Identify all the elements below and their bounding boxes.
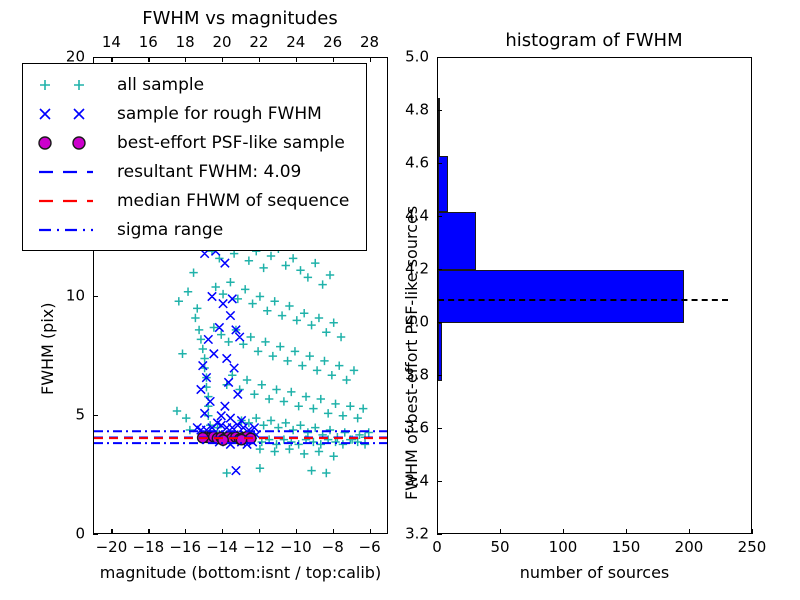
legend-label: best-effort PSF-like sample	[117, 133, 345, 153]
scatter-xtick-label: −14	[206, 540, 238, 555]
scatter-ytick	[93, 57, 98, 58]
legend-label: resultant FWHM: 4.09	[117, 162, 301, 182]
histogram-ytick	[437, 216, 442, 217]
histogram-median-line	[438, 299, 728, 301]
legend-marker-dashed-line-icon	[31, 161, 117, 183]
scatter-xtick-label: −12	[243, 540, 275, 555]
left-panel-title: FWHM vs magnitudes	[142, 10, 337, 28]
legend-item-5[interactable]: sigma range	[31, 215, 358, 244]
scatter-ylabel: FWHM (pix)	[40, 303, 56, 396]
histogram-xtick-label: 200	[675, 540, 704, 555]
scatter-xtick-top-label: 26	[323, 35, 342, 50]
histogram-axes	[437, 57, 752, 534]
psf-sample-point	[218, 435, 228, 445]
scatter-xlabel: magnitude (bottom:isnt / top:calib)	[93, 565, 388, 581]
legend-item-0[interactable]: all sample	[31, 70, 358, 99]
scatter-xtick-top	[333, 57, 334, 62]
histogram-ytick	[437, 534, 442, 535]
histogram-ytick-label: 4.8	[405, 103, 429, 118]
legend-item-4[interactable]: median FHWM of sequence	[31, 186, 358, 215]
legend-item-3[interactable]: resultant FWHM: 4.09	[31, 157, 358, 186]
histogram-xtick-label: 0	[432, 540, 442, 555]
histogram-ytick-label: 3.2	[405, 527, 429, 542]
scatter-xtick-label: −8	[322, 540, 344, 555]
scatter-xtick-top	[111, 57, 112, 62]
scatter-xtick-top	[185, 57, 186, 62]
histogram-xlabel: number of sources	[437, 565, 752, 581]
scatter-ytick-label: 10	[66, 288, 85, 303]
scatter-xtick-label: −6	[359, 540, 381, 555]
scatter-xtick	[148, 529, 149, 534]
scatter-xtick-top	[296, 57, 297, 62]
histogram-bar	[438, 98, 440, 156]
histogram-ytick	[437, 322, 442, 323]
figure-canvas: FWHM vs magnitudes −20−18−16−14−12−10−8−…	[0, 0, 800, 600]
scatter-xtick-top	[222, 57, 223, 62]
histogram-ytick	[437, 57, 442, 58]
scatter-xtick	[185, 529, 186, 534]
legend-label: all sample	[117, 75, 204, 95]
histogram-bar	[438, 323, 442, 381]
scatter-xtick	[111, 529, 112, 534]
legend-marker-dashdot-line-icon	[31, 219, 117, 241]
legend-marker-cross-icon	[31, 103, 117, 125]
legend-marker-plus-icon	[31, 74, 117, 96]
legend-label: sample for rough FWHM	[117, 104, 322, 124]
histogram-bar	[438, 270, 684, 323]
legend-label: sigma range	[117, 220, 223, 240]
scatter-xtick-top-label: 28	[360, 35, 379, 50]
scatter-xtick-label: −20	[96, 540, 128, 555]
scatter-xtick-top	[148, 57, 149, 62]
legend-marker-circle-icon	[31, 132, 117, 154]
scatter-xtick-top-label: 20	[213, 35, 232, 50]
legend-item-2[interactable]: best-effort PSF-like sample	[31, 128, 358, 157]
scatter-xtick	[296, 529, 297, 534]
histogram-ytick	[437, 428, 442, 429]
histogram-xtick	[626, 529, 627, 534]
histogram-ytick	[437, 375, 442, 376]
scatter-ytick	[93, 534, 98, 535]
scatter-ytick	[93, 296, 98, 297]
scatter-xtick-top-label: 18	[176, 35, 195, 50]
histogram-panel-title: histogram of FWHM	[505, 32, 682, 50]
legend-label: median FHWM of sequence	[117, 191, 349, 211]
histogram-ytick	[437, 481, 442, 482]
scatter-ytick-label: 0	[75, 527, 85, 542]
scatter-xtick	[222, 529, 223, 534]
histogram-plot-area	[438, 58, 751, 533]
scatter-xtick-top-label: 24	[286, 35, 305, 50]
legend-item-1[interactable]: sample for rough FWHM	[31, 99, 358, 128]
plot-legend: all samplesample for rough FWHMbest-effo…	[22, 63, 367, 251]
histogram-bar	[438, 156, 448, 212]
legend-marker-dashed-line-icon	[31, 190, 117, 212]
scatter-xtick-label: −16	[169, 540, 201, 555]
histogram-ytick-label: 4.6	[405, 156, 429, 171]
histogram-xtick-label: 150	[612, 540, 641, 555]
scatter-xtick	[333, 529, 334, 534]
scatter-xtick-top-label: 14	[102, 35, 121, 50]
histogram-ylabel: FWHM of best-effort PSF-like sources	[404, 206, 420, 500]
histogram-ytick-label: 5.0	[405, 50, 429, 65]
scatter-xtick-top-label: 16	[139, 35, 158, 50]
histogram-ytick	[437, 269, 442, 270]
histogram-xtick	[689, 529, 690, 534]
histogram-xtick-label: 250	[738, 540, 767, 555]
histogram-xtick-label: 50	[490, 540, 509, 555]
scatter-xtick	[370, 529, 371, 534]
histogram-bar	[438, 212, 476, 270]
histogram-xtick-label: 100	[549, 540, 578, 555]
histogram-xtick	[752, 529, 753, 534]
scatter-xtick-label: −18	[132, 540, 164, 555]
histogram-ytick	[437, 110, 442, 111]
histogram-xtick	[563, 529, 564, 534]
scatter-xtick	[259, 529, 260, 534]
scatter-ytick-label: 5	[75, 407, 85, 422]
histogram-xtick	[500, 529, 501, 534]
scatter-xtick-top	[370, 57, 371, 62]
scatter-xtick-label: −10	[280, 540, 312, 555]
scatter-xtick-top-label: 22	[249, 35, 268, 50]
scatter-ytick	[93, 415, 98, 416]
scatter-xtick-top	[259, 57, 260, 62]
histogram-ytick	[437, 163, 442, 164]
